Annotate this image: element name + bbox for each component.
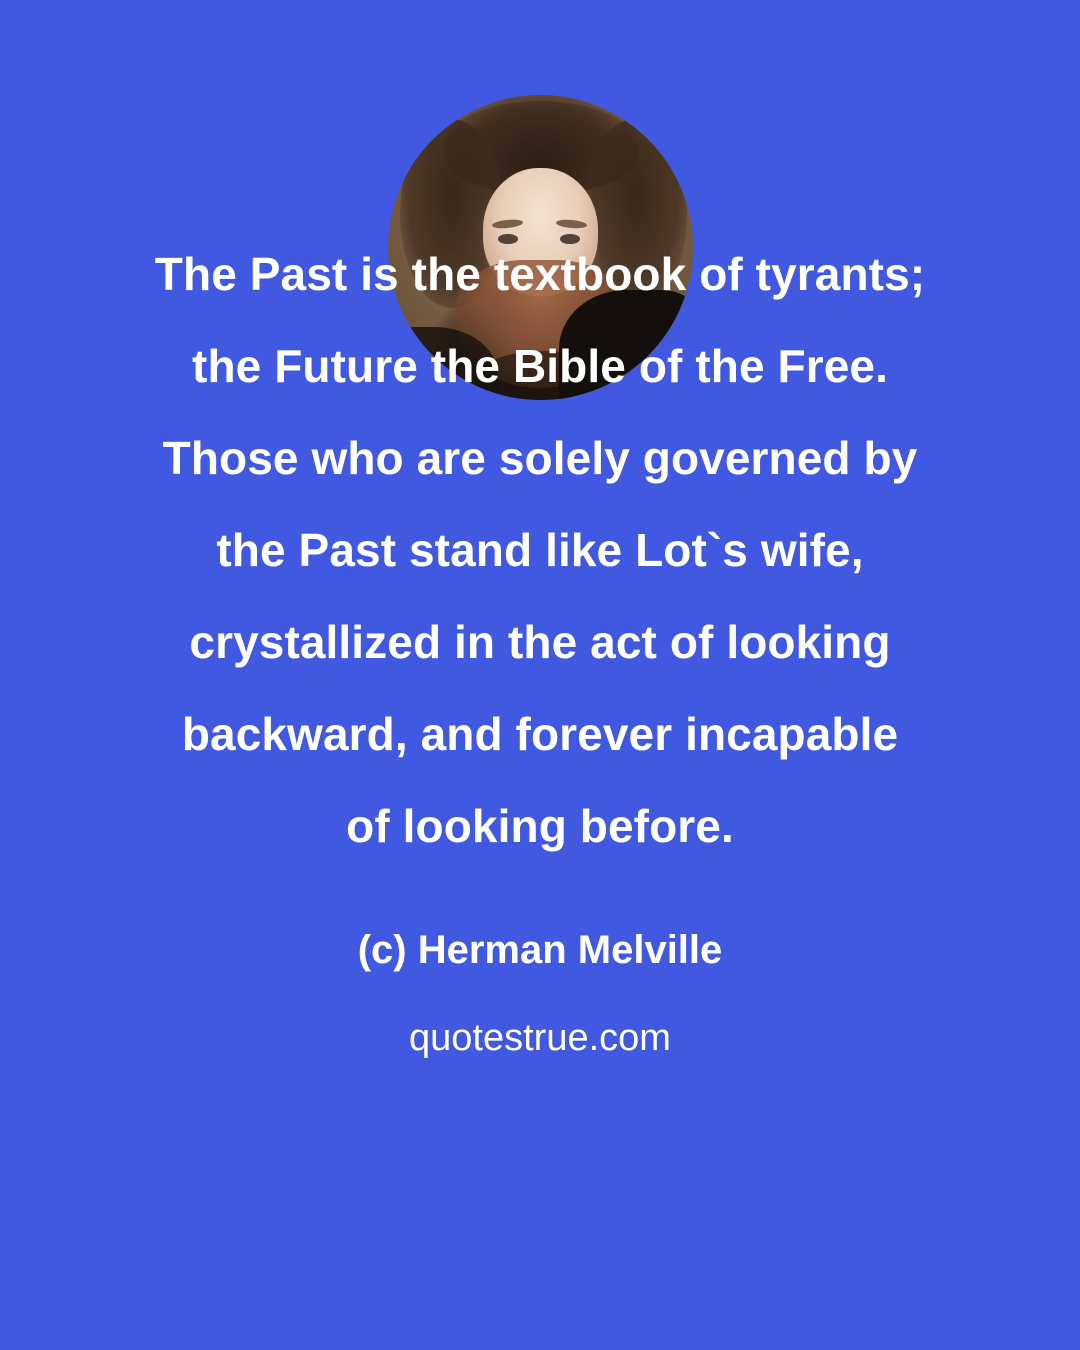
text-layer: The Past is the textbook of tyrants; the… [0, 0, 1080, 1350]
site-url: quotestrue.com [0, 1008, 1080, 1068]
quote-line-4: the Past stand like Lot`s wife, [60, 504, 1020, 596]
quote-line-7: of looking before. [60, 780, 1020, 872]
quote-line-5: crystallized in the act of looking [60, 596, 1020, 688]
quote-line-3: Those who are solely governed by [60, 412, 1020, 504]
quote-line-1: The Past is the textbook of tyrants; [60, 228, 1020, 320]
quote-text: The Past is the textbook of tyrants; the… [0, 228, 1080, 872]
quote-card: The Past is the textbook of tyrants; the… [0, 0, 1080, 1350]
quote-line-6: backward, and forever incapable [60, 688, 1020, 780]
quote-line-2: the Future the Bible of the Free. [60, 320, 1020, 412]
author-attribution: (c) Herman Melville [0, 920, 1080, 980]
